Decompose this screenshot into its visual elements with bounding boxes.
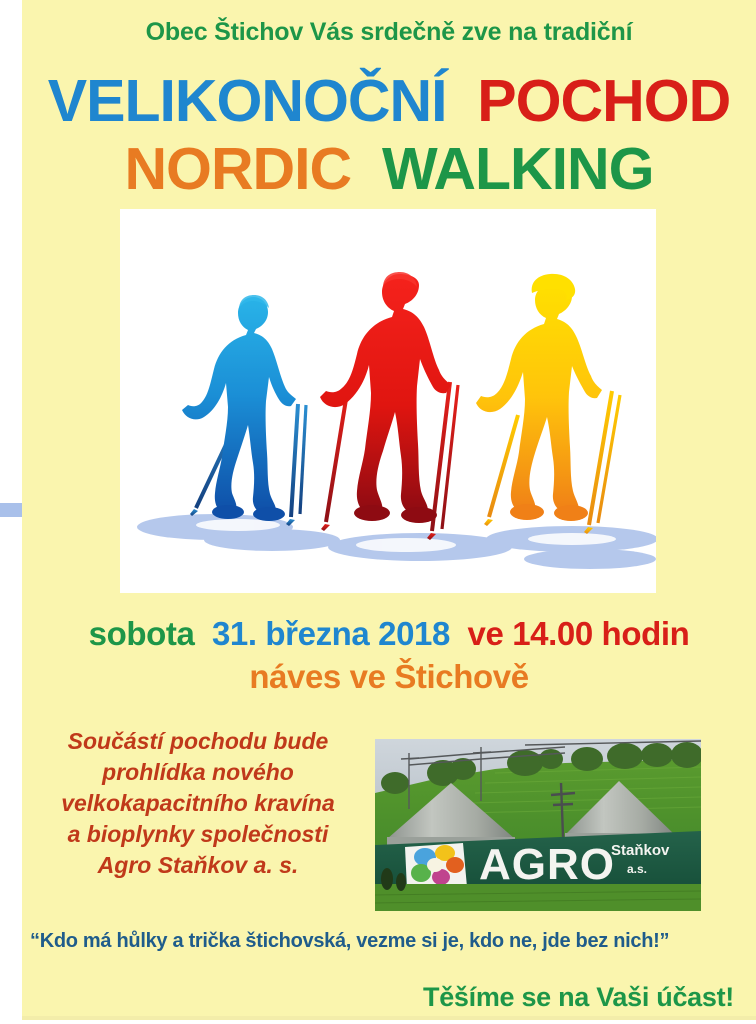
- illustration-shadow-bleed: [0, 503, 22, 517]
- title-line-2: NORDIC WALKING: [22, 138, 756, 200]
- poster-canvas: Obec Štichov Vás srdečně zve na tradiční…: [0, 0, 756, 1024]
- agro-stankov-photo: AGRO Staňkov a.s.: [375, 739, 701, 911]
- closing-line: Těšíme se na Vaši účast!: [22, 982, 734, 1013]
- date-space-1: [203, 615, 212, 652]
- photo-sign-agro: AGRO: [479, 840, 615, 889]
- title-word-velikonocni: VELIKONOČNÍ: [48, 68, 447, 134]
- photo-sign-stankov: Staňkov: [611, 842, 670, 859]
- title-word-walking: WALKING: [382, 136, 654, 202]
- invitation-line: Obec Štichov Vás srdečně zve na tradiční: [22, 18, 756, 47]
- poster-background-bottom-edge: [22, 1016, 756, 1020]
- description-block: Součástí pochodu bude prohlídka nového v…: [28, 726, 368, 881]
- title-line-1: VELIKONOČNÍ POCHOD: [22, 70, 756, 132]
- date-space-2: [459, 615, 468, 652]
- date-time: ve 14.00 hodin: [468, 615, 690, 652]
- place-line: náves ve Štichově: [22, 658, 756, 696]
- description-line-2: prohlídka nového: [28, 757, 368, 788]
- description-line-5: Agro Staňkov a. s.: [28, 850, 368, 881]
- date-day: sobota: [89, 615, 195, 652]
- title-space-2: [367, 136, 382, 202]
- title-space-1: [462, 68, 477, 134]
- title-word-nordic: NORDIC: [124, 136, 351, 202]
- photo-foreground-grass: [375, 884, 701, 911]
- nordic-walking-svg: [120, 209, 656, 593]
- agro-photo-svg: AGRO Staňkov a.s.: [375, 739, 701, 911]
- date-line: sobota 31. března 2018 ve 14.00 hodin: [22, 615, 756, 653]
- nordic-walking-illustration: [120, 209, 656, 593]
- description-line-1: Součástí pochodu bude: [28, 726, 368, 757]
- photo-sign-as: a.s.: [627, 862, 647, 876]
- description-line-4: a bioplynky společnosti: [28, 819, 368, 850]
- description-line-3: velkokapacitního kravína: [28, 788, 368, 819]
- quote-line: “Kdo má hůlky a trička štichovská, vezme…: [30, 930, 736, 953]
- photo-logo-patch: [405, 843, 467, 889]
- date-date: 31. března 2018: [212, 615, 450, 652]
- title-word-pochod: POCHOD: [477, 68, 730, 134]
